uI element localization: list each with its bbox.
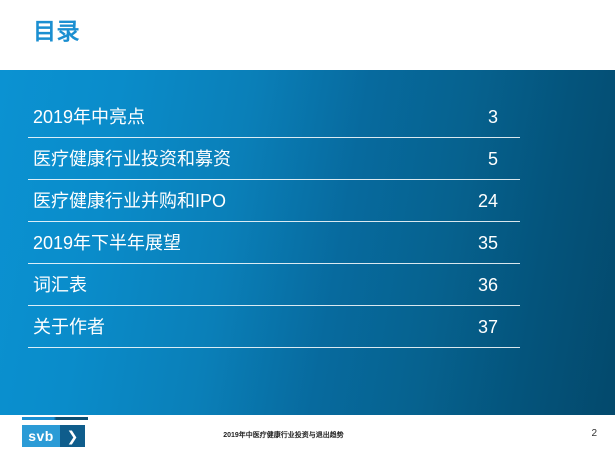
toc-item-label: 2019年下半年展望	[28, 232, 181, 254]
toc-row[interactable]: 医疗健康行业投资和募资 5	[28, 138, 520, 180]
footer-accent-rule	[22, 417, 88, 420]
toc-row[interactable]: 医疗健康行业并购和IPO 24	[28, 180, 520, 222]
toc-row[interactable]: 关于作者 37	[28, 306, 520, 348]
toc-item-page: 5	[488, 148, 520, 170]
toc-row[interactable]: 词汇表 36	[28, 264, 520, 306]
slide-footer: svb ❯ 2019年中医疗健康行业投资与退出趋势 2	[0, 415, 615, 459]
toc-item-label: 2019年中亮点	[28, 106, 145, 128]
toc-row[interactable]: 2019年中亮点 3	[28, 96, 520, 138]
toc-item-page: 24	[478, 190, 520, 212]
toc-item-page: 35	[478, 232, 520, 254]
toc-item-page: 37	[478, 316, 520, 338]
toc-item-label: 关于作者	[28, 316, 105, 338]
footer-report-title: 2019年中医疗健康行业投资与退出趋势	[0, 431, 615, 441]
toc-item-page: 36	[478, 274, 520, 296]
toc-item-label: 医疗健康行业投资和募资	[28, 148, 231, 170]
toc-item-page: 3	[488, 106, 520, 128]
page-title: 目录	[33, 16, 80, 46]
footer-page-number: 2	[591, 428, 597, 440]
toc-row[interactable]: 2019年下半年展望 35	[28, 222, 520, 264]
slide-canvas: 目录 2019年中亮点 3 医疗健康行业投资和募资 5 医疗健康行业并购和IPO…	[0, 0, 615, 459]
toc-item-label: 医疗健康行业并购和IPO	[28, 190, 226, 212]
toc-item-label: 词汇表	[28, 274, 87, 296]
table-of-contents: 2019年中亮点 3 医疗健康行业投资和募资 5 医疗健康行业并购和IPO 24…	[28, 96, 520, 348]
